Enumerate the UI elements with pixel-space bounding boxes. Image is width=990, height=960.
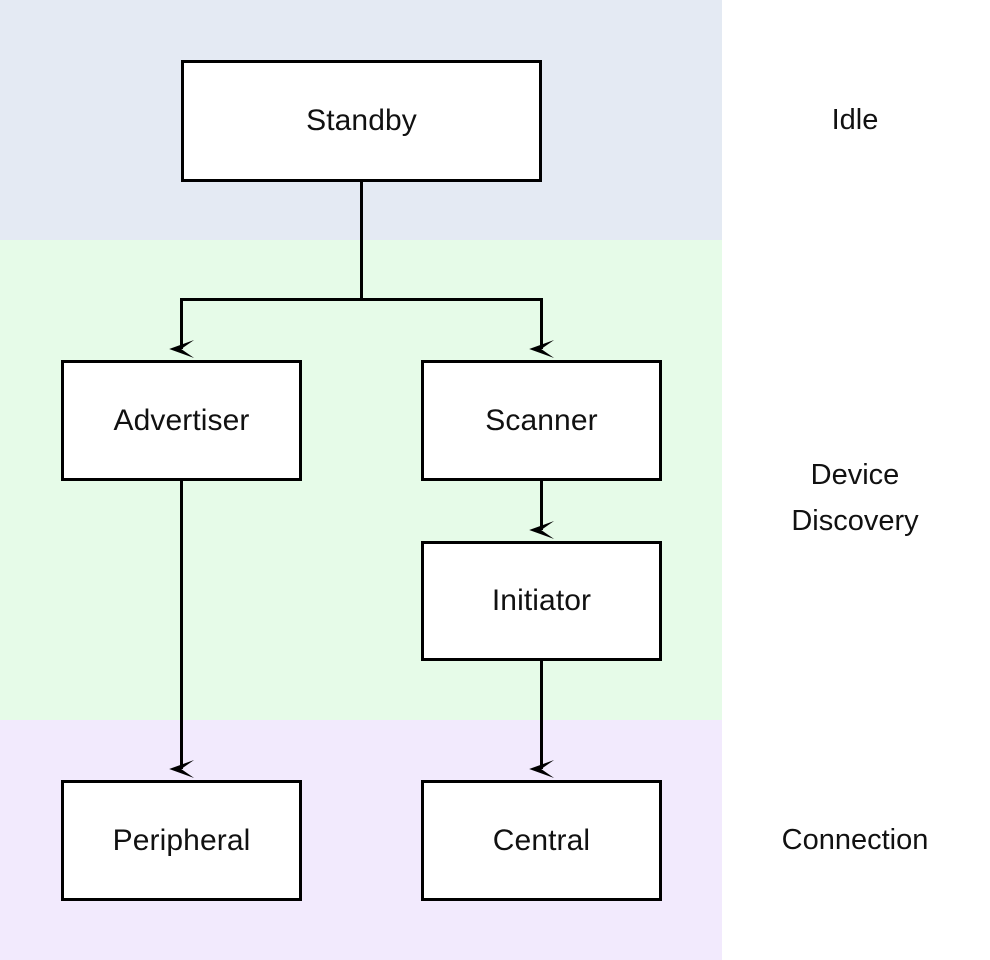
node-scanner-label: Scanner [485,406,597,436]
node-advertiser[interactable]: Advertiser [61,360,302,481]
swimlane-label-idle: Idle [722,97,988,143]
node-standby[interactable]: Standby [181,60,542,182]
node-initiator[interactable]: Initiator [421,541,662,661]
node-scanner[interactable]: Scanner [421,360,662,481]
node-standby-label: Standby [306,106,417,136]
node-peripheral[interactable]: Peripheral [61,780,302,901]
swimlane-label-discovery-line2: Discovery [722,498,988,544]
node-peripheral-label: Peripheral [113,826,251,856]
swimlane-label-idle-text: Idle [722,97,988,143]
node-advertiser-label: Advertiser [113,406,249,436]
swimlane-label-discovery-line1: Device [722,452,988,498]
node-central[interactable]: Central [421,780,662,901]
swimlane-label-device-discovery: Device Discovery [722,452,988,544]
swimlane-label-connection-text: Connection [722,817,988,863]
node-initiator-label: Initiator [492,586,591,616]
diagram-canvas: Standby Advertiser Scanner Initiator Per… [0,0,990,960]
swimlane-label-connection: Connection [722,817,988,863]
node-central-label: Central [493,826,590,856]
